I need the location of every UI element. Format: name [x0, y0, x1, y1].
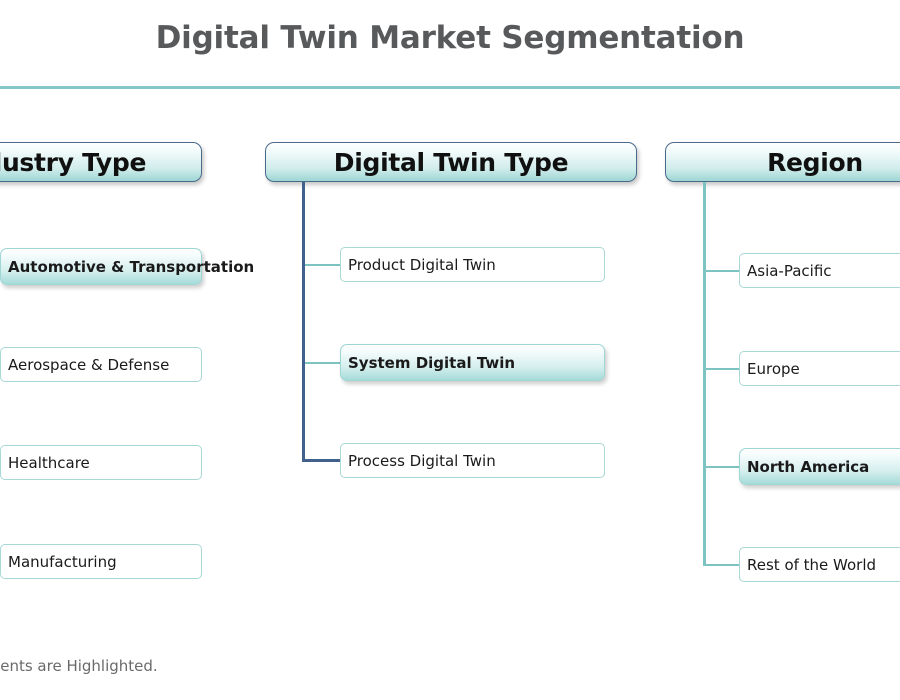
segment-column-region: Region Asia-Pacific Europe North America…	[665, 0, 900, 700]
branch-connector	[706, 466, 739, 468]
branch-connector	[706, 270, 739, 272]
branch-connector	[302, 459, 340, 462]
node-asia-pacific[interactable]: Asia-Pacific	[739, 253, 900, 288]
node-healthcare[interactable]: Healthcare	[0, 445, 202, 480]
branch-connector	[706, 368, 739, 370]
tree-trunk-line-region	[703, 182, 706, 564]
branch-connector	[305, 362, 340, 364]
column-header-digital-twin-type[interactable]: Digital Twin Type	[265, 142, 637, 182]
tree-trunk-line-digital-twin-type	[302, 182, 305, 462]
node-system-digital-twin[interactable]: System Digital Twin	[340, 344, 605, 381]
branch-connector	[703, 564, 739, 566]
footnote-legend: Note: Leading Segments are Highlighted.	[0, 657, 158, 675]
node-manufacturing[interactable]: Manufacturing	[0, 544, 202, 579]
node-north-america[interactable]: North America	[739, 448, 900, 485]
node-rest-of-the-world[interactable]: Rest of the World	[739, 547, 900, 582]
column-header-industry-type[interactable]: Industry Type	[0, 142, 202, 182]
segment-column-digital-twin-type: Digital Twin Type Product Digital Twin S…	[265, 0, 637, 700]
node-europe[interactable]: Europe	[739, 351, 900, 386]
segment-column-industry-type: Industry Type Automotive & Transportatio…	[0, 0, 202, 700]
node-process-digital-twin[interactable]: Process Digital Twin	[340, 443, 605, 478]
branch-connector	[305, 264, 340, 266]
column-header-region[interactable]: Region	[665, 142, 900, 182]
node-aerospace-and-defense[interactable]: Aerospace & Defense	[0, 347, 202, 382]
node-product-digital-twin[interactable]: Product Digital Twin	[340, 247, 605, 282]
node-automotive-and-transportation[interactable]: Automotive & Transportation	[0, 248, 202, 285]
